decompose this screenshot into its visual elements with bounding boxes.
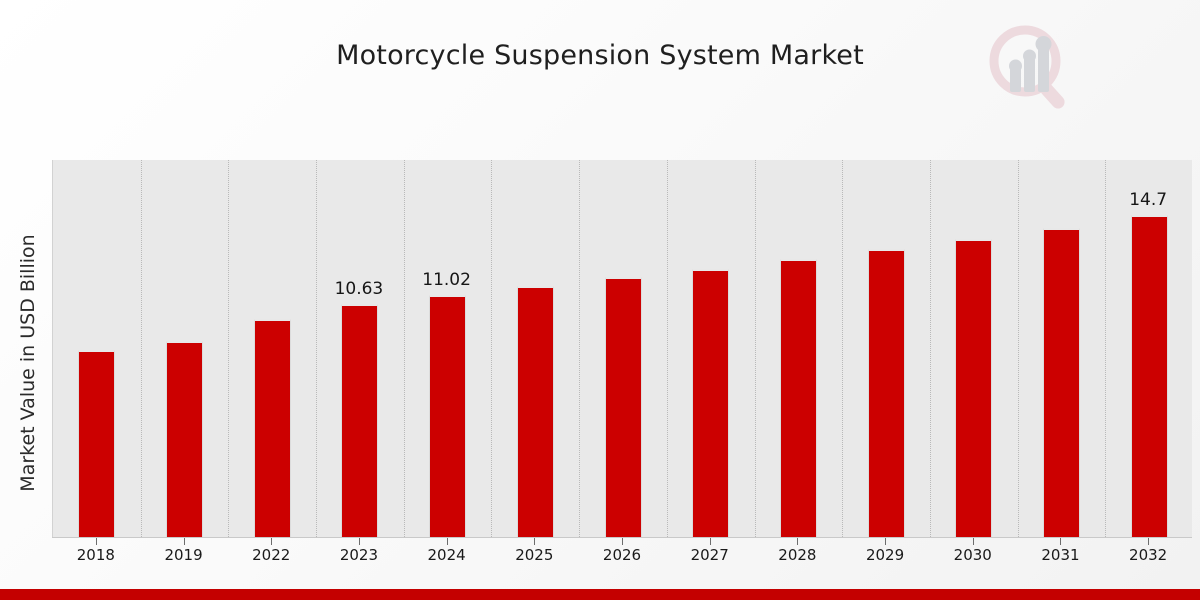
bar-2029[interactable] [868,249,905,537]
gridline [1105,160,1106,537]
gridline [141,160,142,537]
gridline [755,160,756,537]
gridline [1018,160,1019,537]
x-tick-2018 [96,538,97,545]
bar-2028[interactable] [780,259,817,537]
gridline [667,160,668,537]
bar-2026[interactable] [605,277,642,537]
bar-2027[interactable] [692,269,729,538]
bar-value-label-2024: 11.02 [402,270,492,290]
x-tick-label-2027: 2027 [665,546,755,564]
x-tick-label-2023: 2023 [314,546,404,564]
x-tick-label-2029: 2029 [840,546,930,564]
bar-2025[interactable] [517,286,554,537]
x-tick-label-2030: 2030 [928,546,1018,564]
x-tick-2031 [1060,538,1061,545]
gridline [842,160,843,537]
bar-value-label-2032: 14.7 [1103,190,1193,210]
bar-2032[interactable] [1131,215,1168,537]
bar-2030[interactable] [955,239,992,537]
bar-2018[interactable] [78,350,115,537]
x-tick-label-2025: 2025 [489,546,579,564]
x-tick-label-2018: 2018 [51,546,141,564]
x-tick-label-2028: 2028 [752,546,842,564]
x-tick-2023 [359,538,360,545]
x-tick-label-2024: 2024 [402,546,492,564]
x-tick-2030 [973,538,974,545]
gridline [579,160,580,537]
gridline [491,160,492,537]
gridline [404,160,405,537]
x-tick-label-2022: 2022 [226,546,316,564]
x-tick-2032 [1148,538,1149,545]
plot-area [52,160,1192,537]
x-tick-2027 [710,538,711,545]
footer-band [0,589,1200,600]
bar-2031[interactable] [1043,228,1080,537]
x-tick-2019 [184,538,185,545]
x-tick-2028 [797,538,798,545]
bar-2023[interactable] [341,304,378,537]
x-tick-2026 [622,538,623,545]
y-axis-title: Market Value in USD Billion [17,163,39,563]
x-tick-label-2026: 2026 [577,546,667,564]
magnifying-glass-bar-chart-logo [980,18,1080,118]
gridline [930,160,931,537]
x-tick-2025 [534,538,535,545]
gridline [316,160,317,537]
bar-2022[interactable] [254,319,291,537]
bar-2019[interactable] [166,341,203,537]
bar-2024[interactable] [429,295,466,537]
x-tick-2024 [447,538,448,545]
gridline [228,160,229,537]
bar-value-label-2023: 10.63 [314,279,404,299]
x-tick-2029 [885,538,886,545]
x-tick-2022 [271,538,272,545]
x-tick-label-2032: 2032 [1103,546,1193,564]
x-tick-label-2019: 2019 [139,546,229,564]
x-tick-label-2031: 2031 [1015,546,1105,564]
